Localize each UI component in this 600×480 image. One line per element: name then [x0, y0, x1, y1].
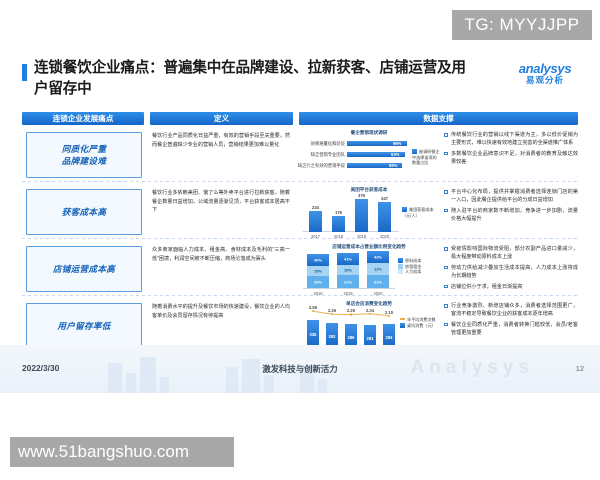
pain-label-line2: 品牌建设难 [62, 156, 106, 166]
chart-title: 餐企营销现状调研 [299, 130, 439, 136]
column-header-pain: 连锁企业发展痛点 [22, 112, 144, 125]
column-header-definition: 定义 [150, 112, 293, 125]
slide-title-row: 连锁餐饮企业痛点：普遍集中在品牌建设、拉新获客、店铺运营及用户留存中 analy… [22, 62, 578, 108]
list-item: 随入驻平台的商家数不断增加，竞争进一步加剧，流量价格大幅提升 [443, 207, 578, 224]
chart-marketing-survey: 餐企营销现状调研 效果难量化和验证 96% 缺乏营销专业团队 [299, 130, 439, 182]
list-item: 多数餐饮企业品牌意识不足，对消费者的教育及触达效果较差 [443, 150, 578, 167]
chart-axis [303, 288, 395, 289]
chart-legend: 被调研餐企中选择该项的数量占比 [412, 149, 440, 166]
bullet-list: 传统餐饮行业的营销以线下渠道为主，多以低价促销为主要形式，难以快速有效地建立完善… [443, 131, 578, 169]
bullet-square-icon [444, 152, 448, 156]
list-item: 行业竞争激烈、新增店铺众多，消费者选择范围更广，客流不稳定导致餐饮企业的获客成本… [443, 302, 578, 319]
stack-segment: 20% [307, 276, 329, 288]
bullet-text: 店铺位供小于求，租金日渐提高 [451, 284, 522, 290]
legend-swatch [412, 149, 417, 154]
legend-label: 桌均消费（元） [407, 323, 436, 328]
list-item: 劳动力供给减少叠加生活成本提高，人力成本上涨将成为长期趋势 [443, 264, 578, 281]
table-row: 同质化严重 品牌建设难 餐饮行业产品同质化日益严重，有效的营销手段至关重要，然而… [22, 129, 578, 183]
definition-text: 餐饮行业产品同质化日益严重，有效的营销手段至关重要，然而餐企普遍缺少专业的营销人… [150, 131, 293, 181]
bullet-text: 受疫情影响国际物流受阻，部分农副产品进口量减少，极大程度带动原料成本上涨 [451, 246, 578, 260]
axis-tick-label: 2018 [330, 234, 347, 239]
legend-label: 房租租金 [405, 264, 421, 269]
slide-canvas: TG: MYYJJPP 连锁餐饮企业痛点：普遍集中在品牌建设、拉新获客、店铺运营… [0, 0, 600, 480]
bar-category-label: 缺乏营销专业团队 [311, 151, 345, 158]
bullet-square-icon [444, 304, 448, 308]
pain-label-line1: 同质化严重 [62, 144, 106, 154]
data-support-cell: 店铺运营成本占营业额比例变化趋势 40% 10% 20% 2018 [299, 244, 578, 296]
bar-column [332, 216, 345, 232]
list-item: 店铺位供小于求，租金日渐提高 [443, 283, 578, 291]
axis-tick-label: 2017 [307, 234, 324, 239]
skyline-decoration [264, 375, 274, 393]
pain-point-label: 获客成本高 [26, 189, 142, 235]
slide-footer: Analysys 2022/3/30 激发科技与创新活力 12 [0, 345, 600, 393]
bar-value-label: 93% [391, 152, 399, 157]
legend-swatch [402, 207, 407, 212]
bullet-text: 随入驻平台的商家数不断增加，竞争进一步加剧，流量价格大幅提升 [451, 208, 578, 222]
column-header-data: 数据支撑 [299, 112, 578, 125]
bullet-square-icon [444, 209, 448, 213]
definition-text: 众多商家面临人力成本、租金高、食材成本及毛利的"三高一低"困境，利润空间被不断压… [150, 245, 293, 295]
stack-segment: 42% [367, 251, 389, 263]
chart-legend: 年平均消费次数 桌均消费（元） [400, 317, 438, 328]
list-item: 传统餐饮行业的营销以线下渠道为主，多以低价促销为主要形式，难以快速有效地建立完善… [443, 131, 578, 148]
pain-point-label: 店铺运营成本高 [26, 246, 142, 292]
bar-column [355, 199, 368, 232]
legend-swatch [398, 264, 403, 269]
legend-swatch [400, 318, 405, 320]
bullet-square-icon [444, 133, 448, 137]
axis-tick-label: 2018 [307, 291, 329, 296]
logo-mark-text: analysys [512, 62, 578, 75]
segment-value-label: 21% [367, 279, 389, 284]
bar-value-label: 89% [389, 163, 397, 168]
footer-slogan: 激发科技与创新活力 [0, 363, 600, 375]
stack-segment: 41% [337, 253, 359, 265]
stack-segment: 21% [337, 275, 359, 288]
pain-point-table: 连锁企业发展痛点 定义 数据支撑 同质化严重 品牌建设难 餐饮行业产品同质化日益… [22, 112, 578, 360]
stack-segment: 21% [367, 275, 389, 288]
bar-value-label: 176 [330, 210, 347, 215]
logo-cn-text: 易观分析 [512, 75, 578, 86]
bar-value-label: 376 [353, 193, 370, 198]
telegram-watermark: TG: MYYJJPP [452, 10, 592, 40]
bullet-text: 行业竞争激烈、新增店铺众多，消费者选择范围更广，客流不稳定导致餐饮企业的获客成本… [451, 303, 578, 317]
bullet-square-icon [444, 285, 448, 289]
segment-value-label: 41% [337, 257, 359, 262]
bullet-square-icon [444, 266, 448, 270]
legend-label: 原料成本 [405, 258, 421, 263]
skyline-decoration [160, 377, 169, 393]
legend-swatch [398, 258, 403, 263]
legend-entry: 人力成本 [398, 269, 438, 275]
footer-page-number: 12 [576, 364, 584, 373]
analysys-logo: analysys 易观分析 [512, 62, 578, 86]
axis-tick-label: 2020 [367, 291, 389, 296]
bullet-square-icon [444, 190, 448, 194]
title-accent-bar [22, 64, 27, 81]
bar-category-label: 效果难量化和验证 [311, 140, 345, 147]
segment-value-label: 10% [307, 269, 329, 274]
definition-text: 餐饮行业多依赖美团、饿了么等外卖平台进行拉新获客，随着餐企数量日益增加，公域流量… [150, 188, 293, 238]
bar-column [309, 211, 322, 232]
legend-entry: 桌均消费（元） [400, 323, 438, 329]
stack-segment: 10% [307, 266, 329, 276]
bullet-list: 平台中心化布局，提供并掌握消费者选择连锁门店的第一入口，因此餐企提供给平台的分成… [443, 188, 578, 226]
stack-segment: 12% [367, 263, 389, 275]
bullet-list: 行业竞争激烈、新增店铺众多，消费者选择范围更广，客流不稳定导致餐饮企业的获客成本… [443, 302, 578, 340]
bar-category-label: 缺乏行之有效的营销手段 [298, 162, 345, 169]
segment-value-label: 42% [367, 255, 389, 260]
table-row: 获客成本高 餐饮行业多依赖美团、饿了么等外卖平台进行拉新获客，随着餐企数量日益增… [22, 186, 578, 240]
presentation-slide: 连锁餐饮企业痛点：普遍集中在品牌建设、拉新获客、店铺运营及用户留存中 analy… [0, 48, 600, 393]
chart-operating-cost-ratio: 店铺运营成本占营业额比例变化趋势 40% 10% 20% 2018 [299, 244, 439, 296]
bar-value-label: 96% [393, 141, 401, 146]
chart-meituan-acquisition-cost: 美团平台获客成本 234 2017 176 2018 376 2019 347 [299, 187, 439, 239]
segment-value-label: 10% [337, 268, 359, 273]
data-support-cell: 餐企营销现状调研 效果难量化和验证 96% 缺乏营销专业团队 [299, 130, 578, 182]
chart-title: 店铺运营成本占营业额比例变化趋势 [299, 244, 439, 250]
legend-swatch [398, 269, 403, 274]
site-watermark: www.51bangshuo.com [10, 437, 234, 467]
segment-value-label: 20% [307, 280, 329, 285]
data-support-cell: 美团平台获客成本 234 2017 176 2018 376 2019 347 [299, 187, 578, 239]
bullet-square-icon [444, 247, 448, 251]
stack-segment: 40% [307, 254, 329, 266]
bar-value-label: 347 [376, 196, 393, 201]
stack-segment: 10% [337, 265, 359, 275]
bullet-square-icon [444, 323, 448, 327]
legend-swatch [400, 323, 405, 328]
page-title: 连锁餐饮企业痛点：普遍集中在品牌建设、拉新获客、店铺运营及用户留存中 [34, 58, 474, 100]
legend-label: 年平均消费次数 [407, 317, 436, 322]
axis-tick-label: 2019 [337, 291, 359, 296]
bar-column [378, 202, 391, 232]
bullet-text: 餐饮企业同质化严重，消费者转换门槛较低，会员/老客管理更加重要 [451, 322, 578, 336]
list-item: 受疫情影响国际物流受阻，部分农副产品进口量减少，极大程度带动原料成本上涨 [443, 245, 578, 262]
legend-label: 人力成本 [405, 269, 421, 274]
bullet-list: 受疫情影响国际物流受阻，部分农副产品进口量减少，极大程度带动原料成本上涨 劳动力… [443, 245, 578, 293]
chart-legend: 美团获客成本（元/人） [402, 207, 440, 218]
pain-point-label: 同质化严重 品牌建设难 [26, 132, 142, 178]
axis-tick-label: 2019 [353, 234, 370, 239]
axis-tick-label: 2020 [376, 234, 393, 239]
list-item: 平台中心化布局，提供并掌握消费者选择连锁门店的第一入口，因此餐企提供给平台的分成… [443, 188, 578, 205]
segment-value-label: 40% [307, 258, 329, 263]
skyline-decoration [318, 379, 327, 393]
bullet-text: 劳动力供给减少叠加生活成本提高，人力成本上涨将成为长期趋势 [451, 265, 578, 279]
segment-value-label: 12% [367, 267, 389, 272]
chart-legend: 原料成本 房租租金 人力成本 [398, 258, 438, 275]
bullet-text: 传统餐饮行业的营销以线下渠道为主，多以低价促销为主要形式，难以快速有效地建立完善… [451, 132, 578, 146]
bullet-text: 平台中心化布局，提供并掌握消费者选择连锁门店的第一入口，因此餐企提供给平台的分成… [451, 189, 578, 203]
bullet-text: 多数餐饮企业品牌意识不足，对消费者的教育及触达效果较差 [451, 151, 578, 165]
bar-value-label: 234 [307, 205, 324, 210]
pain-point-label: 用户留存率低 [26, 303, 142, 349]
skyline-decoration [126, 373, 136, 393]
list-item: 餐饮企业同质化严重，消费者转换门槛较低，会员/老客管理更加重要 [443, 321, 578, 338]
segment-value-label: 21% [337, 279, 359, 284]
table-row: 店铺运营成本高 众多商家面临人力成本、租金高、食材成本及毛利的"三高一低"困境，… [22, 243, 578, 297]
